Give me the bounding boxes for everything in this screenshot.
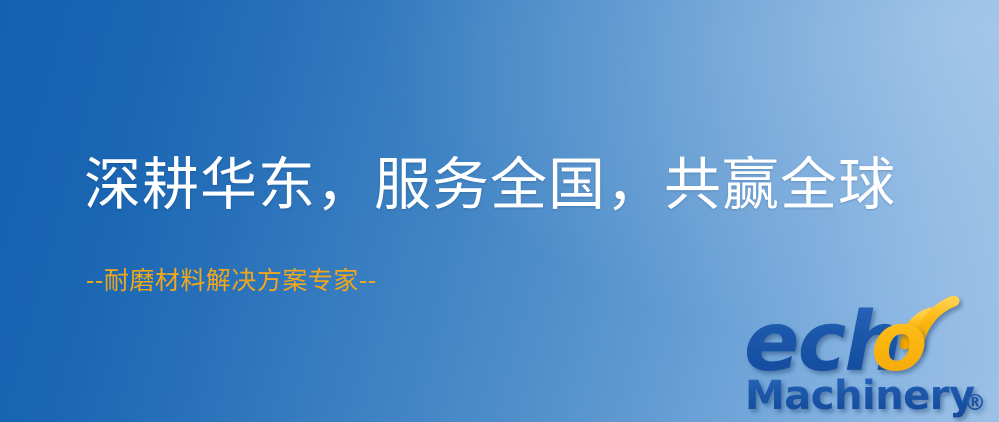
banner-headline: 深耕华东，服务全国，共赢全球 [84,152,896,218]
echo-machinery-logo[interactable]: ech o Machinery ® [742,296,999,422]
banner-subtitle: --耐磨材料解决方案专家-- [86,266,377,296]
logo-tagline: Machinery [745,373,975,419]
promo-banner: 深耕华东，服务全国，共赢全球 --耐磨材料解决方案专家-- [0,0,999,422]
logo-registered-mark: ® [964,391,986,416]
